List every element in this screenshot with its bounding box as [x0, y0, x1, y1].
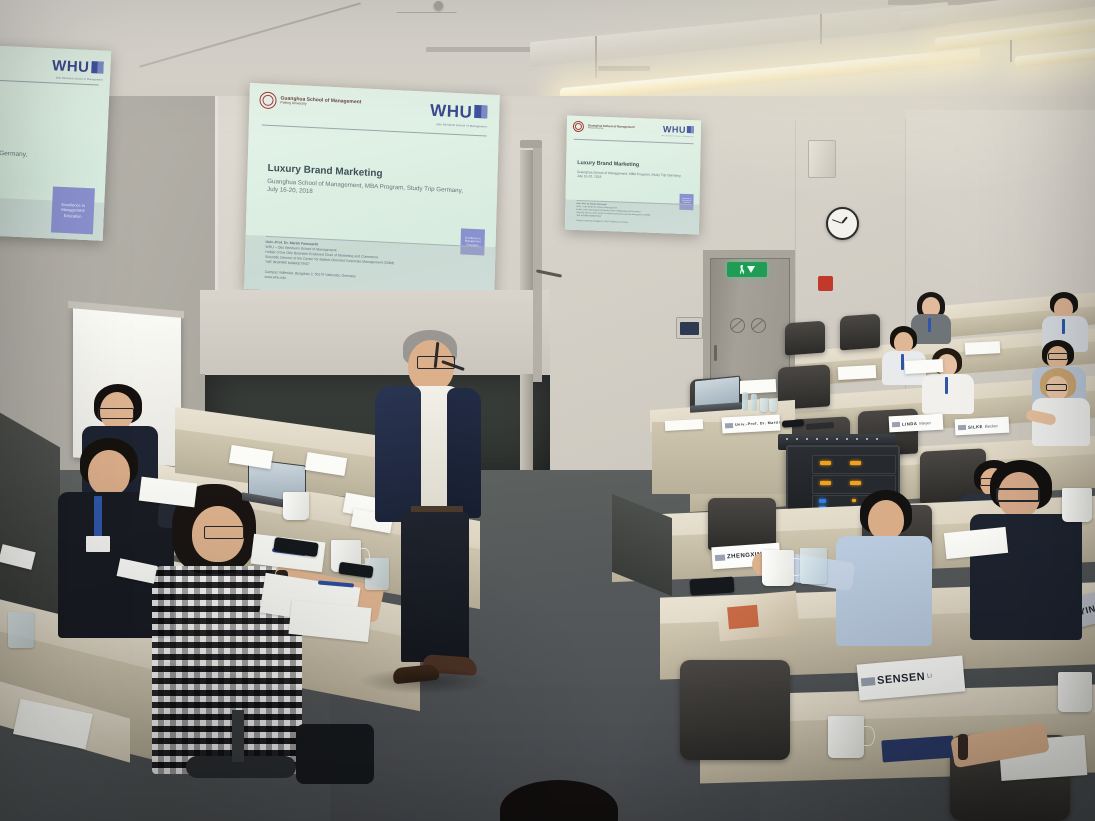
name-placard: [905, 359, 944, 374]
chair[interactable]: [840, 314, 880, 351]
fire-extinguisher-sign: [818, 276, 833, 291]
lecture-hall-photo: WHU Otto Beisheim School of Management G…: [0, 0, 1095, 821]
drinking-glass: [8, 612, 34, 648]
handout-paper: [665, 419, 703, 431]
student-head-foreground: [500, 780, 620, 821]
screen-roller-top: [520, 140, 542, 148]
excellence-badge-left: Excellence in Management Education: [51, 186, 95, 234]
placard-logo-icon: [892, 421, 900, 426]
bag: [296, 724, 374, 784]
slide-footer-2: Univ.-Prof. Dr. Martin Fassnacht WHU – O…: [576, 200, 691, 228]
mug-handle: [862, 726, 875, 746]
wristband: [958, 734, 968, 760]
no-drinks-icon: [751, 318, 766, 333]
slide-title-2: Luxury Brand Marketing: [577, 160, 639, 168]
wall-speaker: [808, 140, 836, 178]
whu-logo: WHU Otto Beisheim School of Management: [430, 101, 488, 129]
name-placard: [838, 365, 877, 380]
guanghua-logo-2: Guanghua School of Management Peking Uni…: [573, 121, 635, 134]
door-handle[interactable]: [714, 345, 717, 361]
name-placard: SILKE Becker: [955, 417, 1010, 436]
whu-wordmark: WHU: [430, 101, 473, 123]
wall-clock: [826, 207, 859, 240]
slide-subtitle: Guanghua School of Management, MBA Progr…: [267, 178, 463, 204]
coffee-mug: [1062, 488, 1092, 522]
presenter-jacket: [375, 386, 421, 522]
secondary-projection-screen: Guanghua School of Management Peking Uni…: [565, 116, 701, 235]
whu-mark-icon: [474, 105, 487, 119]
presenter-jacket-right: [447, 388, 481, 518]
whu-subline: Otto Beisheim School of Management: [56, 76, 103, 81]
presenter-shadow: [360, 668, 490, 694]
glasses-icon: [1046, 384, 1067, 391]
exit-sign: [727, 262, 767, 277]
down-arrow-icon: [747, 266, 755, 273]
guanghua-seal-icon: [573, 121, 584, 132]
chair[interactable]: [680, 660, 790, 760]
drinking-glass: [760, 398, 768, 412]
drinking-glass: [769, 399, 777, 412]
running-man-icon: [740, 265, 745, 275]
student: [836, 490, 936, 650]
placard-logo-icon: [715, 554, 725, 561]
badge: [86, 536, 110, 552]
whu-logo-2: WHU Otto Beisheim School of Management: [662, 124, 694, 138]
glasses-icon: [204, 526, 244, 539]
whu-mark-icon: [91, 61, 104, 74]
brochure: [727, 605, 759, 630]
student-arm: [952, 712, 1072, 802]
placard-logo-icon: [725, 422, 733, 427]
name-placard: [965, 341, 1001, 355]
drinking-glass: [800, 548, 827, 584]
slide-title: Luxury Brand Marketing: [267, 163, 382, 180]
water-bottle: [751, 394, 757, 411]
no-smoking-icon: [730, 318, 745, 333]
coffee-mug: [1058, 672, 1092, 712]
glasses-icon: [1048, 353, 1068, 360]
main-projection-screen: Guanghua School of Management Peking Uni…: [244, 83, 500, 301]
av-control-panel[interactable]: [676, 317, 703, 339]
chair[interactable]: [785, 321, 825, 356]
smartphone[interactable]: [689, 576, 734, 595]
water-bottle: [742, 392, 748, 411]
guanghua-seal-icon: [259, 91, 276, 109]
left-screen-subtitle: Guanghua School of Management, MBA Progr…: [0, 142, 27, 160]
left-projection-screen: WHU Otto Beisheim School of Management G…: [0, 41, 111, 241]
student: [920, 348, 976, 412]
name-placard: Univ.-Prof. Dr. Martin Fassnacht: [722, 414, 781, 433]
presenter: [375, 330, 485, 690]
glasses-icon: [996, 488, 1040, 502]
presenter-trousers: [401, 512, 469, 662]
coffee-mug: [828, 716, 864, 758]
control-panel-screen: [680, 322, 699, 335]
screen-roller-bracket: [533, 142, 542, 382]
chair-post: [232, 710, 244, 762]
slide-subtitle-2: Guanghua School of Management, MBA Progr…: [577, 170, 682, 183]
name-placard: LINDA Meyer: [889, 414, 944, 433]
student: [1030, 368, 1092, 446]
placard-logo-icon: [958, 424, 966, 429]
whu-wordmark: WHU: [52, 57, 90, 76]
placard-logo-icon: [861, 677, 876, 686]
coffee-mug: [283, 492, 309, 520]
chair[interactable]: [708, 498, 776, 550]
whu-mark-icon: [687, 126, 694, 133]
coffee-mug: [762, 550, 794, 586]
glasses-icon: [98, 408, 134, 419]
whu-subline: Otto Beisheim School of Management: [436, 123, 487, 128]
guanghua-logo: Guanghua School of Management Peking Uni…: [259, 91, 361, 113]
